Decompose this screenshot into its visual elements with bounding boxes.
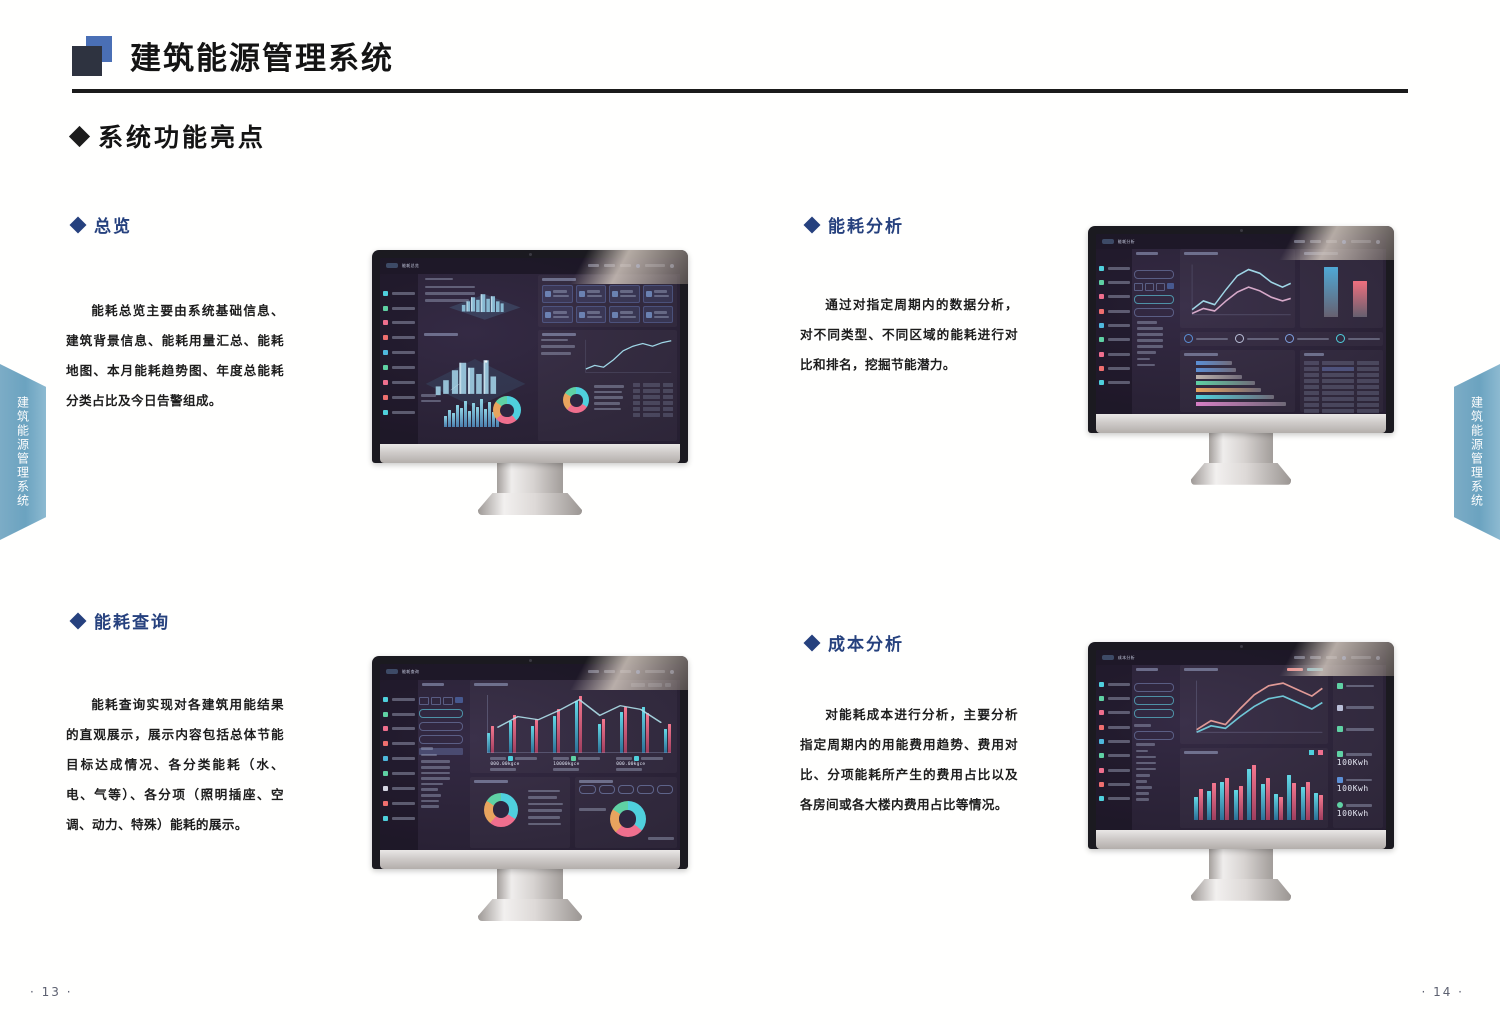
bar-current: [1261, 784, 1265, 820]
bar-group: [1194, 765, 1203, 820]
ranking-bar: [1196, 361, 1232, 365]
sidebar-item-icon: [1099, 753, 1104, 758]
table-cell: [663, 395, 673, 399]
sidebar-item-icon: [383, 786, 388, 791]
sidebar-item-2[interactable]: [1096, 706, 1132, 720]
kpi-strip-item[interactable]: [1285, 334, 1329, 343]
metric-value: 100Kwh: [1337, 758, 1380, 767]
table-cell: [663, 401, 673, 405]
table-row[interactable]: [1304, 373, 1379, 377]
sidebar-item-5[interactable]: [1096, 333, 1132, 347]
sidebar-item-8[interactable]: [380, 405, 418, 420]
sidebar-item-icon: [1099, 696, 1104, 701]
annual-donut-chart: [563, 387, 589, 413]
bar-group: [1234, 765, 1243, 820]
table-row[interactable]: [633, 389, 673, 393]
filter-panel[interactable]: [418, 680, 465, 849]
compare-bar: [1353, 281, 1367, 317]
table-cell: [643, 395, 661, 399]
sidebar-item-icon: [1099, 739, 1104, 744]
ranking-table-panel[interactable]: [1300, 350, 1384, 413]
topbar-nav[interactable]: [1294, 240, 1380, 244]
bar-group: [1220, 765, 1229, 820]
kpi-card[interactable]: [576, 306, 606, 324]
diamond-bullet-icon: [804, 216, 821, 233]
sidebar-item-3[interactable]: [380, 736, 418, 751]
sidebar-item-label: [1108, 797, 1130, 800]
sidebar-item-5[interactable]: [1096, 749, 1132, 763]
table-cell: [1357, 397, 1379, 401]
kpi-card[interactable]: [609, 306, 639, 324]
page-title: 建筑能源管理系统: [130, 33, 394, 78]
kpi-sub: [578, 757, 600, 760]
square-icon: [1337, 751, 1343, 757]
sidebar-item-icon: [383, 365, 388, 370]
sidebar-item-1[interactable]: [380, 301, 418, 316]
page-number-right: · 14 ·: [1421, 985, 1464, 999]
kpi-label: [553, 290, 566, 293]
donut-filter-chips[interactable]: [579, 785, 673, 794]
table-cell: [1322, 397, 1354, 401]
sidebar-item-0[interactable]: [380, 286, 418, 301]
dashboard-title: 能耗查询: [402, 669, 419, 675]
kpi-label: [1297, 338, 1329, 341]
table-cell: [643, 389, 661, 393]
dashboard-topbar[interactable]: 能耗查询: [380, 664, 680, 680]
sidebar-item-3[interactable]: [380, 330, 418, 345]
sidebar-item-6[interactable]: [1096, 763, 1132, 777]
metric-value: 100Kwh: [1337, 809, 1380, 818]
table-row[interactable]: [633, 395, 673, 399]
sidebar-item-3[interactable]: [1096, 720, 1132, 734]
sidebar-item-icon: [1099, 366, 1104, 371]
filter-select[interactable]: [419, 722, 462, 731]
bar-current: [598, 724, 601, 753]
sidebar-item-5[interactable]: [380, 360, 418, 375]
summary-icon: [1337, 683, 1343, 689]
kpi-icon: [612, 312, 618, 318]
table-cell: [1304, 409, 1319, 413]
filter-select[interactable]: [1134, 295, 1174, 304]
table-cell: [663, 413, 673, 417]
cost-analysis-dashboard[interactable]: 成本分析: [1096, 650, 1386, 830]
bar-previous: [1239, 786, 1243, 820]
ranking-bar-chart: [1196, 361, 1290, 406]
sidebar-item-label: [1108, 726, 1130, 729]
bar: [472, 403, 475, 427]
sidebar-item-8[interactable]: [1096, 376, 1132, 390]
energy-analysis-dashboard[interactable]: 能耗分析: [1096, 234, 1386, 414]
sidebar-item-label: [392, 307, 415, 310]
table-cell: [643, 383, 661, 387]
filter-select[interactable]: [1134, 270, 1174, 279]
kpi-card[interactable]: [643, 285, 673, 303]
filter-tree[interactable]: [1137, 321, 1172, 366]
filter-button-group[interactable]: [1134, 283, 1174, 291]
feature-title-overview: 总览: [72, 212, 132, 237]
sidebar-item-icon: [383, 306, 388, 311]
bar: [444, 416, 447, 427]
kpi-icon: [646, 312, 652, 318]
dashboard-topbar[interactable]: 能耗总览: [380, 258, 680, 274]
bar-previous: [1212, 783, 1216, 820]
sidebar-item-icon: [383, 771, 388, 776]
filter-tree[interactable]: [1136, 743, 1172, 800]
table-row[interactable]: [1304, 409, 1379, 413]
bar-previous: [579, 696, 582, 753]
topbar-nav[interactable]: [588, 670, 674, 674]
bar-group: [1261, 765, 1270, 820]
kpi-item: 000.00kgce: [616, 756, 663, 771]
sidebar-item-icon: [1099, 768, 1104, 773]
kpi-sub: [515, 757, 537, 760]
trend-panel: [1180, 249, 1294, 328]
bar-current: [1234, 790, 1238, 820]
feature-title-cost: 成本分析: [806, 630, 904, 655]
header-divider: [72, 89, 1408, 93]
bar-current: [1274, 794, 1278, 820]
kpi-card[interactable]: [643, 306, 673, 324]
sidebar-item-label: [1108, 683, 1130, 686]
sidebar-item-1[interactable]: [1096, 275, 1132, 289]
table-row[interactable]: [633, 401, 673, 405]
compare-bar-chart: [1316, 267, 1375, 318]
ranking-bar: [1196, 375, 1242, 379]
sidebar-item-6[interactable]: [380, 781, 418, 796]
bar-previous: [668, 724, 671, 753]
bar-group: [509, 695, 516, 753]
sidebar-item-2[interactable]: [380, 316, 418, 331]
kpi-icon: [571, 756, 576, 761]
city-3d-icon: [444, 285, 526, 326]
sidebar-item-label: [1108, 324, 1130, 327]
ranking-bar: [1196, 368, 1236, 372]
table-header-row[interactable]: [633, 383, 673, 387]
kpi-label: [620, 311, 633, 314]
bar-previous: [1279, 797, 1283, 820]
chart-toolbar[interactable]: [631, 683, 671, 687]
sidebar-item-label: [1108, 783, 1130, 786]
kpi-icon: [545, 312, 551, 318]
metric-card: 100Kwh: [1337, 751, 1380, 767]
table-row[interactable]: [633, 407, 673, 411]
diamond-bullet-icon: [804, 634, 821, 651]
kpi-row: 000.00kgce10000kgce000.00kgce: [482, 756, 671, 771]
section-heading: 系统功能亮点: [72, 118, 266, 154]
sidebar-item-4[interactable]: [380, 345, 418, 360]
subitem-donut-panel: [575, 777, 677, 848]
sidebar-item-7[interactable]: [380, 390, 418, 405]
table-cell: [1357, 361, 1379, 365]
monitor-cost-analysis: 成本分析: [1088, 642, 1394, 901]
filter-select[interactable]: [1134, 308, 1174, 317]
sidebar-item-label: [392, 366, 415, 369]
dashboard-topbar[interactable]: 成本分析: [1096, 650, 1386, 665]
dashboard-title: 能耗分析: [1118, 239, 1135, 245]
sidebar-item-8[interactable]: [380, 811, 418, 826]
compare-panel: [1300, 249, 1384, 328]
table-cell: [633, 383, 640, 387]
kpi-value: [654, 295, 670, 298]
sidebar-item-icon: [383, 350, 388, 355]
sidebar-item-5[interactable]: [380, 766, 418, 781]
sidebar-item-2[interactable]: [380, 722, 418, 737]
page-header: 建筑能源管理系统: [72, 33, 1408, 93]
kpi-value: 000.00kgce: [616, 762, 663, 767]
feature-body-overview: 能耗总览主要由系统基础信息、建筑背景信息、能耗用量汇总、能耗地图、本月能耗趋势图…: [66, 296, 284, 416]
sidebar-item-0[interactable]: [1096, 261, 1132, 275]
filter-panel[interactable]: [1132, 249, 1175, 412]
filter-panel[interactable]: [1132, 665, 1175, 828]
sidebar-item-label: [1108, 381, 1130, 384]
alarm-table[interactable]: [633, 383, 673, 417]
sidebar-item-1[interactable]: [1096, 691, 1132, 705]
dashboard-sidebar[interactable]: [1096, 665, 1132, 830]
table-row[interactable]: [633, 413, 673, 417]
kpi-icon: [508, 756, 513, 761]
table-cell: [663, 389, 673, 393]
cross-icon: [1337, 777, 1343, 783]
table-header-row[interactable]: [1304, 361, 1379, 365]
sidebar-item-7[interactable]: [380, 796, 418, 811]
sidebar-item-0[interactable]: [1096, 677, 1132, 691]
bar-previous: [1319, 795, 1323, 820]
bar-previous: [513, 715, 516, 753]
bar-previous: [1199, 789, 1203, 821]
bar-group: [553, 695, 560, 753]
bar: [448, 410, 451, 427]
table-cell: [643, 407, 661, 411]
bar-group: [1247, 765, 1256, 820]
kpi-icon: [612, 291, 618, 297]
sidebar-item-label: [392, 713, 415, 716]
filter-button-group[interactable]: [419, 697, 462, 705]
bar-current: [1287, 775, 1291, 820]
compare-bar: [1324, 267, 1338, 318]
sidebar-item-6[interactable]: [1096, 347, 1132, 361]
ranking-bar: [1196, 381, 1255, 385]
topbar-nav[interactable]: [588, 264, 674, 268]
sidebar-item-label: [1108, 281, 1130, 284]
table-cell: [1322, 391, 1354, 395]
monitor-energy-analysis: 能耗分析: [1088, 226, 1394, 485]
monthly-bar-chart: [444, 399, 490, 428]
ranking-bar: [1196, 388, 1261, 392]
energy-overview-dashboard[interactable]: 能耗总览: [380, 258, 680, 444]
table-row[interactable]: [1304, 403, 1379, 407]
sidebar-item-icon: [1099, 682, 1104, 687]
kpi-label: [490, 757, 506, 760]
sidebar-item-icon: [383, 726, 388, 731]
feature-title-analysis: 能耗分析: [806, 212, 904, 237]
dashboard-content: 000.00kgce10000kgce000.00kgce: [418, 680, 681, 850]
bar-previous: [1252, 765, 1256, 820]
sidebar-item-label: [1108, 338, 1130, 341]
sidebar-item-icon: [383, 291, 388, 296]
kpi-strip[interactable]: [1180, 332, 1383, 347]
kpi-icon: [579, 312, 585, 318]
donut-annotation: [648, 837, 675, 840]
kpi-value: [620, 295, 636, 298]
monitor-energy-overview: 能耗总览: [372, 250, 688, 515]
filter-select[interactable]: [419, 735, 462, 744]
cost-summary-item[interactable]: [1337, 705, 1380, 711]
filter-select[interactable]: [1134, 731, 1174, 740]
table-row[interactable]: [1304, 379, 1379, 383]
sidebar-item-icon: [383, 335, 388, 340]
cost-summary-item[interactable]: [1337, 726, 1380, 732]
kpi-sub: [641, 757, 663, 760]
trend-line-chart: [584, 338, 673, 375]
dashboard-sidebar[interactable]: [1096, 249, 1132, 414]
bar-previous: [602, 719, 605, 753]
bar-group: [487, 695, 494, 753]
sidebar-item-icon: [1099, 266, 1104, 271]
metric-card: 100Kwh: [1337, 802, 1380, 818]
topbar-nav[interactable]: [1294, 656, 1380, 660]
kpi-icon: [1184, 334, 1193, 343]
bar-group: [642, 695, 649, 753]
filter-tree[interactable]: [421, 747, 461, 808]
summary-icon: [1337, 726, 1343, 732]
sidebar-item-label: [1108, 367, 1130, 370]
kpi-value: [620, 316, 636, 319]
sidebar-item-icon: [1099, 337, 1104, 342]
sidebar-item-label: [392, 411, 415, 414]
filter-select[interactable]: [1134, 683, 1174, 692]
sidebar-item-3[interactable]: [1096, 304, 1132, 318]
bar-group: [575, 695, 582, 753]
table-cell: [1322, 373, 1354, 377]
table-cell: [1357, 367, 1379, 371]
table-cell: [633, 413, 640, 417]
kpi-item: 10000kgce: [553, 756, 600, 771]
sidebar-item-2[interactable]: [1096, 290, 1132, 304]
dashboard-content: 100Kwh100Kwh100Kwh: [1132, 665, 1386, 830]
kpi-strip-item[interactable]: [1336, 334, 1380, 343]
app-logo-icon: [1102, 239, 1114, 244]
kpi-label: [654, 290, 667, 293]
kpi-card[interactable]: [576, 285, 606, 303]
consumption-chart-panel: 000.00kgce10000kgce000.00kgce: [470, 680, 677, 774]
diamond-bullet-icon: [70, 612, 87, 629]
dashboard-sidebar[interactable]: [380, 680, 418, 850]
sidebar-item-label: [392, 817, 415, 820]
table-cell: [633, 389, 640, 393]
bar: [468, 411, 471, 428]
dashboard-topbar[interactable]: 能耗分析: [1096, 234, 1386, 249]
summary-icon: [1337, 705, 1343, 711]
feature-label: 能耗分析: [828, 212, 904, 237]
kpi-label: [553, 757, 569, 760]
bar-current: [1207, 791, 1211, 820]
table-row[interactable]: [1304, 385, 1379, 389]
energy-query-dashboard[interactable]: 能耗查询: [380, 664, 680, 850]
table-row[interactable]: [1304, 367, 1379, 371]
sidebar-item-1[interactable]: [380, 707, 418, 722]
kpi-card[interactable]: [609, 285, 639, 303]
circle-icon: [1337, 802, 1343, 808]
bar-current: [642, 707, 645, 753]
brochure-page: 建筑能源管理系统 系统功能亮点 建筑能源管理系统 建筑能源管理系统 总览 能耗总…: [0, 0, 1500, 1025]
kpi-sub-label: [616, 768, 642, 771]
ranking-bar: [1196, 402, 1286, 406]
table-cell: [1304, 391, 1319, 395]
summary-label: [1346, 728, 1374, 731]
filter-select[interactable]: [419, 709, 462, 718]
sidebar-item-label: [1108, 740, 1130, 743]
dual-line-chart: [1190, 262, 1293, 317]
sidebar-item-label: [392, 351, 415, 354]
kpi-value: [587, 316, 603, 319]
kpi-strip-item[interactable]: [1235, 334, 1279, 343]
bar-previous: [1225, 778, 1229, 820]
feature-body-analysis: 通过对指定周期内的数据分析，对不同类型、不同区域的能耗进行对比和排名，挖掘节能潜…: [800, 290, 1018, 380]
filter-select[interactable]: [1134, 709, 1174, 718]
sidebar-item-8[interactable]: [1096, 792, 1132, 806]
sidebar-item-4[interactable]: [380, 751, 418, 766]
sidebar-item-6[interactable]: [380, 375, 418, 390]
dashboard-sidebar[interactable]: [380, 274, 418, 444]
kpi-strip-item[interactable]: [1184, 334, 1228, 343]
side-ribbon-left: 建筑能源管理系统: [0, 364, 46, 540]
kpi-label: [620, 290, 633, 293]
table-cell: [633, 395, 640, 399]
table-cell: [1357, 391, 1379, 395]
cost-summary-item[interactable]: [1337, 683, 1380, 689]
sidebar-item-label: [392, 727, 415, 730]
kpi-card-grid[interactable]: [542, 285, 673, 324]
bar-previous: [1266, 778, 1270, 820]
sidebar-item-label: [392, 742, 415, 745]
kpi-card[interactable]: [542, 285, 572, 303]
feature-label: 能耗查询: [94, 608, 170, 633]
energy-map-panel: [420, 330, 530, 441]
sidebar-item-icon: [383, 816, 388, 821]
sidebar-item-7[interactable]: [1096, 361, 1132, 375]
bar: [476, 407, 479, 427]
bar-current: [664, 729, 667, 753]
table-cell: [1357, 403, 1379, 407]
table-row[interactable]: [1304, 391, 1379, 395]
metric-label: [1346, 804, 1372, 807]
dashboard-content: [418, 274, 681, 444]
bar-current: [620, 712, 623, 753]
bar-current: [1220, 782, 1224, 820]
donut-annotation: [579, 808, 606, 811]
table-row[interactable]: [1304, 397, 1379, 401]
metric-card-panel: 100Kwh100Kwh100Kwh: [1333, 665, 1384, 828]
sidebar-item-icon: [383, 801, 388, 806]
sidebar-item-4[interactable]: [1096, 734, 1132, 748]
feature-title-query: 能耗查询: [72, 608, 170, 633]
kpi-label: [587, 290, 600, 293]
bar-current: [1301, 787, 1305, 820]
sidebar-item-4[interactable]: [1096, 318, 1132, 332]
bar-current: [509, 721, 512, 753]
filter-select[interactable]: [1134, 696, 1174, 705]
app-logo-icon: [386, 263, 398, 268]
square-logo-icon: [72, 36, 118, 76]
kpi-icon: [634, 756, 639, 761]
sidebar-item-0[interactable]: [380, 692, 418, 707]
category-donut-panel: [470, 777, 570, 848]
category-donut-chart: [484, 793, 518, 827]
kpi-card[interactable]: [542, 306, 572, 324]
sidebar-item-icon: [383, 320, 388, 325]
sidebar-item-7[interactable]: [1096, 777, 1132, 791]
kpi-value: [553, 295, 569, 298]
